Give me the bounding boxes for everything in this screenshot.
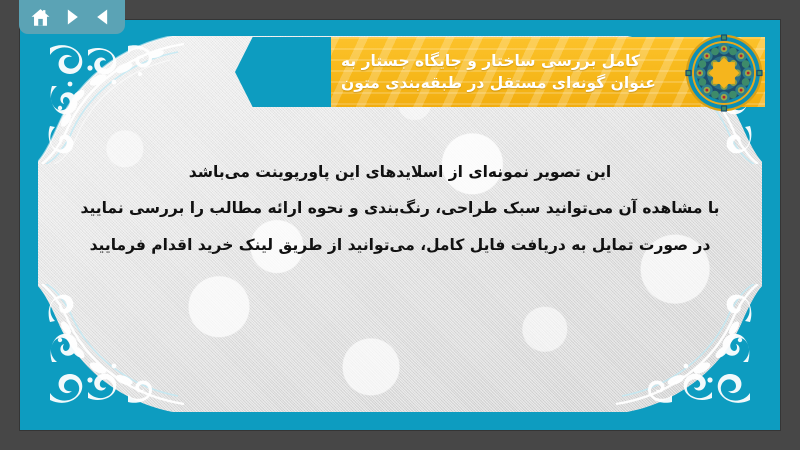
next-button[interactable] [59,4,85,30]
home-icon [30,7,51,28]
navigation-panel [19,0,125,34]
body-line-3: در صورت تمایل به دریافت فایل کامل، می‌تو… [78,227,722,263]
arabesque-corner-icon [614,284,762,412]
banner-arrow-shape [235,37,333,107]
title-line-1: کامل بررسی ساختار و جایگاه جستار به [341,50,640,72]
persian-medallion-icon [685,34,763,112]
slide-body-text: این تصویر نمونه‌ای از اسلایدهای این پاور… [78,154,722,263]
arabesque-corner-icon [38,36,186,164]
body-line-1: این تصویر نمونه‌ای از اسلایدهای این پاور… [78,154,722,190]
previous-button[interactable] [90,4,116,30]
triangle-left-icon [93,7,113,27]
slide-viewer: این تصویر نمونه‌ای از اسلایدهای این پاور… [0,0,800,450]
body-line-2: با مشاهده آن می‌توانید سبک طراحی، رنگ‌بن… [78,190,722,226]
triangle-right-icon [62,7,82,27]
arabesque-corner-icon [38,284,186,412]
title-line-2: عنوان گونه‌ای مستقل در طبقه‌بندی متون [341,72,656,94]
slide-frame: این تصویر نمونه‌ای از اسلایدهای این پاور… [20,20,780,430]
home-button[interactable] [28,4,54,30]
